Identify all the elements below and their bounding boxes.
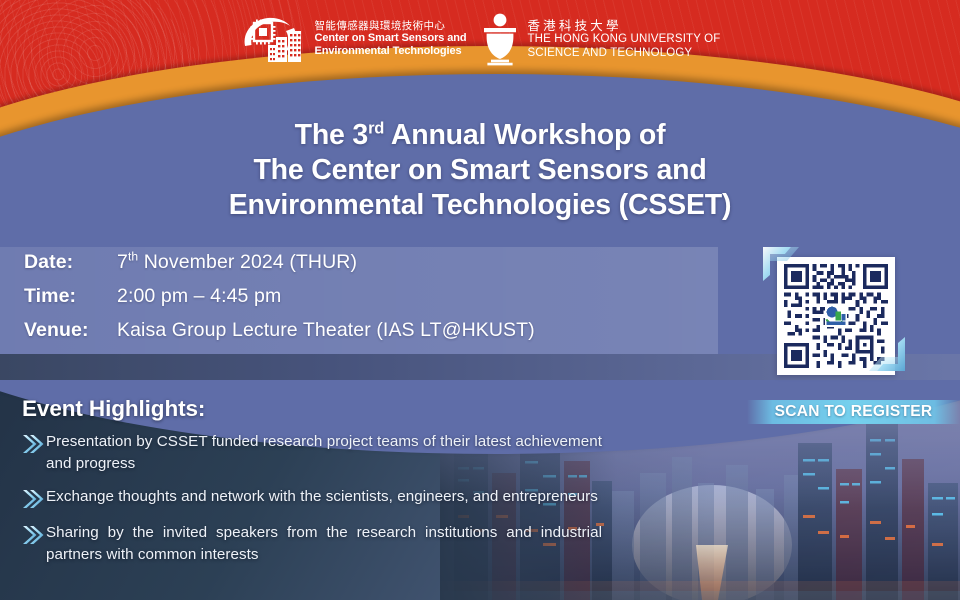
event-poster: 智能傳感器與環境技術中心 Center on Smart Sensors and… <box>0 0 960 600</box>
hkust-english-line1: THE HONG KONG UNIVERSITY OF <box>527 33 720 47</box>
event-highlights-heading: Event Highlights: <box>22 396 205 422</box>
double-chevron-icon <box>20 524 46 546</box>
hkust-english-line2: SCIENCE AND TECHNOLOGY <box>527 47 720 61</box>
highlight-text: Presentation by CSSET funded research pr… <box>46 431 602 474</box>
venue-value: Kaisa Group Lecture Theater (IAS LT@HKUS… <box>117 319 535 342</box>
event-details-list: Date: 7th November 2024 (THUR) Time: 2:0… <box>24 251 535 353</box>
title-line-1: The 3rd Annual Workshop of <box>0 118 960 153</box>
double-chevron-icon <box>20 433 46 455</box>
event-highlights-list: Presentation by CSSET funded research pr… <box>20 431 610 577</box>
logo-row: 智能傳感器與環境技術中心 Center on Smart Sensors and… <box>0 0 960 78</box>
csset-chinese-name: 智能傳感器與環境技術中心 <box>315 20 467 32</box>
hkust-chinese-name: 香港科技大學 <box>527 18 720 33</box>
title-line1-pre: The 3 <box>295 119 368 151</box>
title-line1-post: Annual Workshop of <box>384 119 665 151</box>
scan-to-register-label: SCAN TO REGISTER <box>775 403 933 421</box>
csset-english-line2: Environmental Technologies <box>315 45 467 58</box>
detail-row-date: Date: 7th November 2024 (THUR) <box>24 251 535 285</box>
csset-logo-text: 智能傳感器與環境技術中心 Center on Smart Sensors and… <box>315 20 467 58</box>
date-day: 7 <box>117 251 128 273</box>
double-chevron-icon <box>20 488 46 510</box>
date-day-suffix: th <box>128 250 138 264</box>
title-line-3: Environmental Technologies (CSSET) <box>0 188 960 223</box>
detail-row-time: Time: 2:00 pm – 4:45 pm <box>24 285 535 319</box>
corner-bracket-icon <box>861 335 907 377</box>
detail-row-venue: Venue: Kaisa Group Lecture Theater (IAS … <box>24 319 535 353</box>
time-label: Time: <box>24 285 117 308</box>
highlight-item: Exchange thoughts and network with the s… <box>20 486 610 510</box>
date-value: 7th November 2024 (THUR) <box>117 251 357 274</box>
title-line-2: The Center on Smart Sensors and <box>0 153 960 188</box>
csset-english-line1: Center on Smart Sensors and <box>315 32 467 45</box>
date-label: Date: <box>24 251 117 274</box>
time-value: 2:00 pm – 4:45 pm <box>117 285 281 308</box>
scan-to-register-banner[interactable]: SCAN TO REGISTER <box>747 400 960 424</box>
highlight-item: Sharing by the invited speakers from the… <box>20 522 610 565</box>
hkust-logo: 香港科技大學 THE HONG KONG UNIVERSITY OF SCIEN… <box>480 12 720 66</box>
hkust-emblem-icon <box>480 12 520 66</box>
csset-sensor-city-logo-icon <box>240 12 308 66</box>
csset-logo: 智能傳感器與環境技術中心 Center on Smart Sensors and… <box>240 12 467 66</box>
highlight-text: Sharing by the invited speakers from the… <box>46 522 602 565</box>
hkust-logo-text: 香港科技大學 THE HONG KONG UNIVERSITY OF SCIEN… <box>527 18 720 61</box>
qr-registration-block[interactable] <box>757 243 937 383</box>
highlight-text: Exchange thoughts and network with the s… <box>46 486 602 508</box>
venue-label: Venue: <box>24 319 117 342</box>
title-ordinal-suffix: rd <box>368 119 384 138</box>
highlight-item: Presentation by CSSET funded research pr… <box>20 431 610 474</box>
corner-bracket-icon <box>761 241 807 283</box>
date-rest: November 2024 (THUR) <box>138 251 357 273</box>
poster-title: The 3rd Annual Workshop of The Center on… <box>0 118 960 223</box>
